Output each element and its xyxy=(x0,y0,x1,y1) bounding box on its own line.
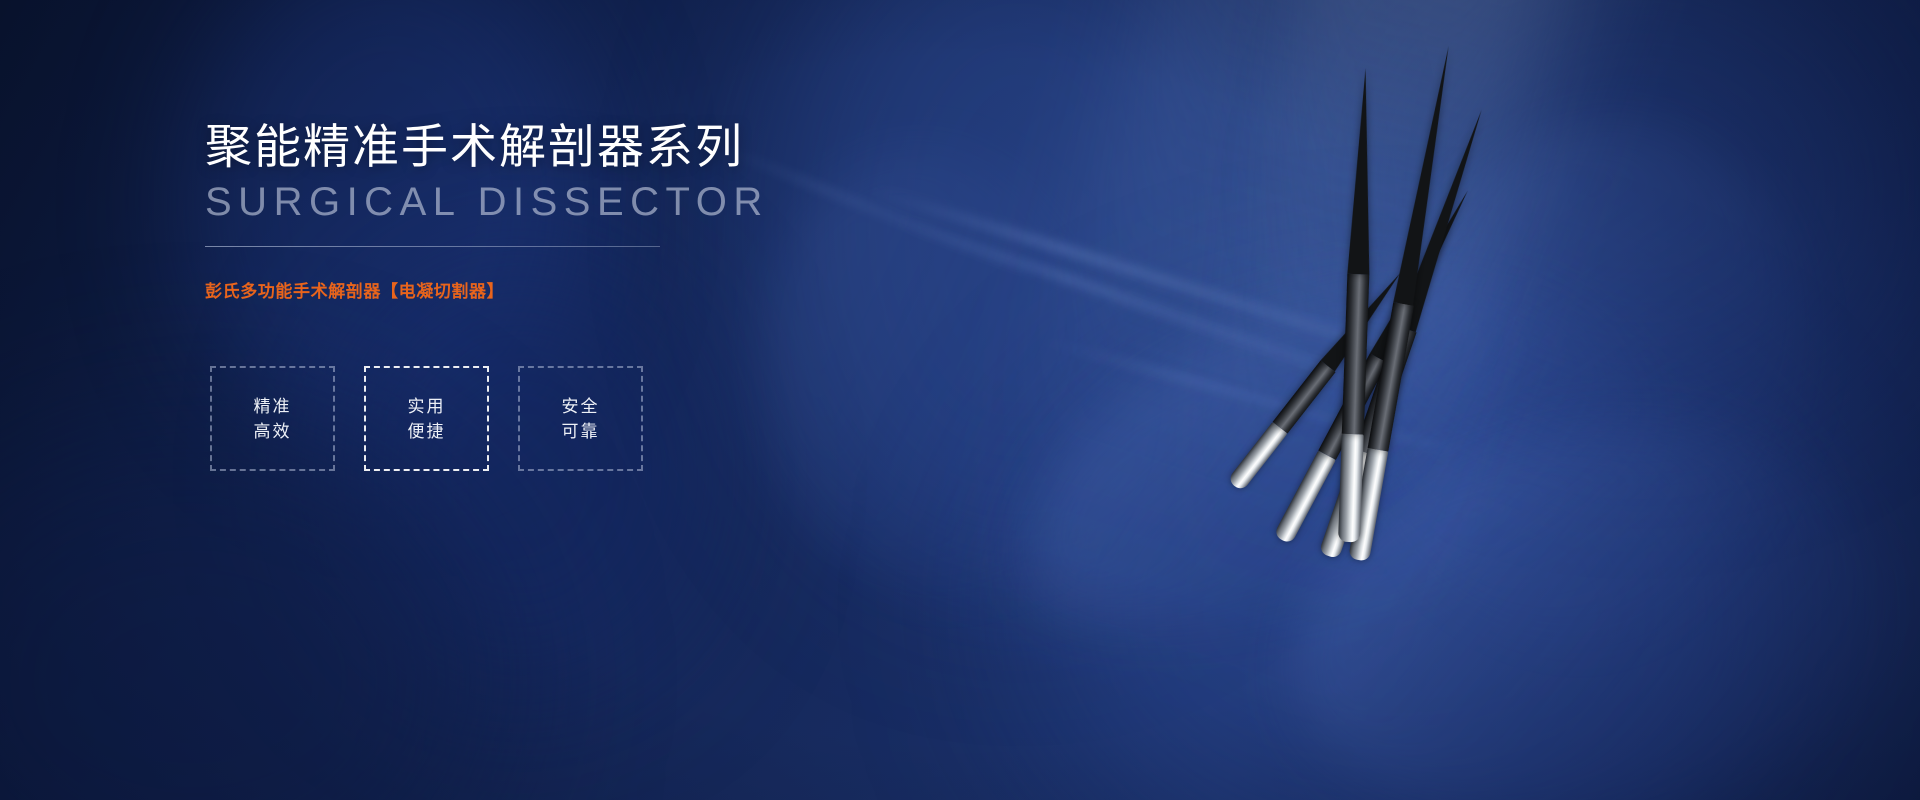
page-subtitle-english: SURGICAL DISSECTOR xyxy=(205,180,769,225)
feature-badge-precision[interactable]: 精准 高效 xyxy=(210,366,335,471)
feature-badge-row: 精准 高效 实用 便捷 安全 可靠 xyxy=(210,366,643,471)
feature-badge-safety[interactable]: 安全 可靠 xyxy=(518,366,643,471)
feature-badge-line-1: 安全 xyxy=(562,398,600,415)
title-divider xyxy=(205,246,660,247)
feature-badge-line-1: 实用 xyxy=(408,398,446,415)
banner-text-content: 聚能精准手术解剖器系列 SURGICAL DISSECTOR 彭氏多功能手术解剖… xyxy=(0,0,1920,800)
product-name-highlight: 彭氏多功能手术解剖器【电凝切割器】 xyxy=(205,277,504,302)
feature-badge-line-2: 可靠 xyxy=(562,423,600,440)
feature-badge-line-1: 精准 xyxy=(254,398,292,415)
product-hero-banner: 聚能精准手术解剖器系列 SURGICAL DISSECTOR 彭氏多功能手术解剖… xyxy=(0,0,1920,800)
feature-badge-line-2: 高效 xyxy=(254,423,292,440)
page-title: 聚能精准手术解剖器系列 xyxy=(205,121,744,174)
feature-badge-line-2: 便捷 xyxy=(408,423,446,440)
feature-badge-practical[interactable]: 实用 便捷 xyxy=(364,366,489,471)
